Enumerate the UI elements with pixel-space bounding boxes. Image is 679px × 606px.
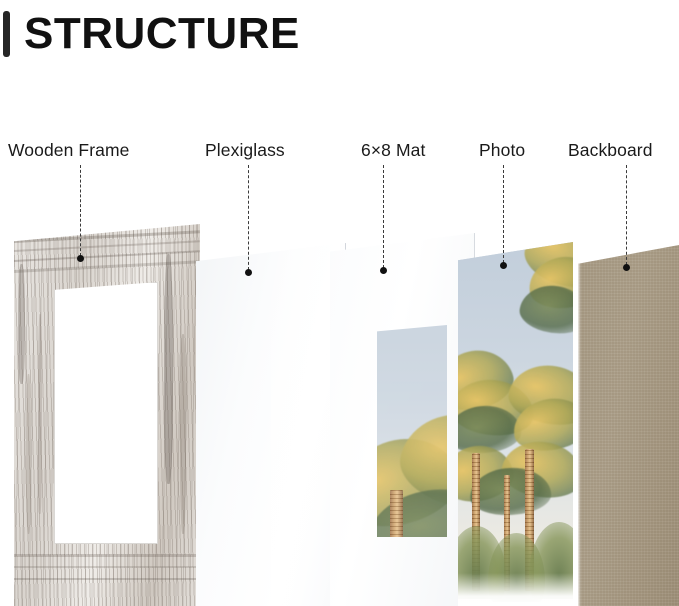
layer-label-mat: 6×8 Mat xyxy=(361,140,425,161)
leader-line-plexiglass xyxy=(248,165,250,270)
layer-photo[interactable] xyxy=(458,242,573,606)
plexiglass-sheen xyxy=(271,243,340,606)
backboard-texture xyxy=(578,245,679,606)
layer-backboard[interactable] xyxy=(578,245,679,606)
palm-trunk xyxy=(390,490,403,537)
wood-grain-streak xyxy=(14,240,200,252)
leader-dot-backboard xyxy=(623,264,630,271)
photo-bottom-wash xyxy=(458,573,573,606)
wood-grain-streak xyxy=(14,554,200,557)
frame-opening xyxy=(54,282,158,544)
photo-artwork xyxy=(458,242,573,606)
wood-grain-streak xyxy=(180,334,186,534)
backboard-edge-highlight xyxy=(578,245,581,606)
leader-line-photo xyxy=(503,165,505,263)
layer-label-plexiglass: Plexiglass xyxy=(205,140,285,161)
layer-label-backboard: Backboard xyxy=(568,140,653,161)
wood-grain-streak xyxy=(14,260,200,273)
leader-dot-mat xyxy=(380,267,387,274)
layer-plexiglass[interactable] xyxy=(196,243,346,606)
leader-line-mat xyxy=(383,165,385,268)
wood-grain-streak xyxy=(18,264,25,384)
leader-line-wooden-frame xyxy=(80,165,82,256)
layer-wooden-frame[interactable] xyxy=(14,224,200,606)
wood-grain-streak xyxy=(14,566,200,568)
leader-dot-plexiglass xyxy=(245,269,252,276)
leader-dot-wooden-frame xyxy=(77,255,84,262)
mat-opening-photo-preview xyxy=(377,325,447,537)
wood-grain-streak xyxy=(14,250,200,262)
leader-dot-photo xyxy=(500,262,507,269)
wood-grain-streak xyxy=(14,578,200,580)
layer-label-wooden-frame: Wooden Frame xyxy=(8,140,130,161)
layer-label-photo: Photo xyxy=(479,140,525,161)
wood-grain-streak xyxy=(26,374,31,534)
mat-opening xyxy=(377,325,447,537)
wood-grain-streak xyxy=(38,314,42,514)
leader-line-backboard xyxy=(626,165,628,265)
wood-grain-streak xyxy=(164,254,173,484)
exploded-view-diagram xyxy=(0,0,679,606)
layer-mat[interactable] xyxy=(330,233,475,606)
